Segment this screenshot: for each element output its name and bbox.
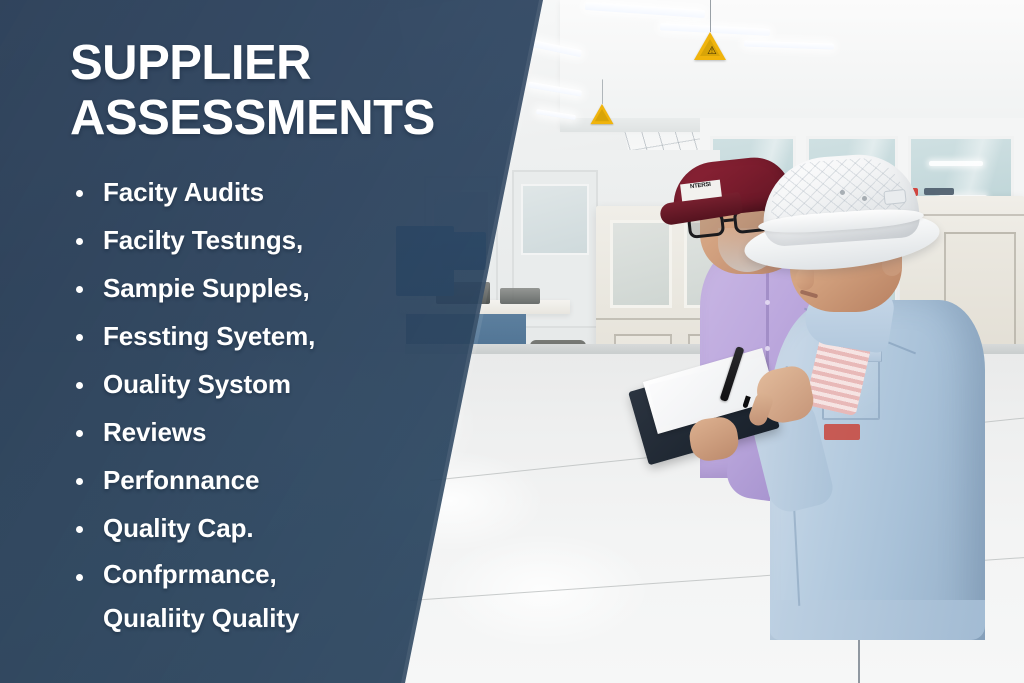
jacket-hem (770, 600, 985, 640)
list-item: Ouality Systom (70, 360, 370, 408)
jacket-name-badge (824, 424, 860, 440)
list-item: Sampie Supples, (70, 264, 370, 312)
bucket-hat-vent (862, 196, 867, 201)
bucket-hat-tab (883, 189, 906, 205)
list-item: Quality Cap. (70, 504, 370, 552)
worker-front-nose (796, 268, 814, 290)
title-line-2: ASSESSMENTS (70, 91, 470, 146)
title-line-1: SUPPLIER (70, 36, 311, 90)
text-content: SUPPLIER ASSESSMENTS Facity Audits Facil… (0, 0, 470, 683)
slide-canvas: ⚠ (0, 0, 1024, 683)
list-item: Facity Audits (70, 168, 370, 216)
shirt-button (765, 300, 770, 305)
list-item: Confprmance, Quıaliity Quality (70, 552, 370, 640)
shirt-button (765, 346, 770, 351)
glasses-bridge (724, 218, 734, 222)
list-item: Facilty Testıngs, (70, 216, 370, 264)
bullet-list: Facity Audits Facilty Testıngs, Sampie S… (70, 168, 470, 640)
page-title: SUPPLIER ASSESSMENTS (70, 36, 470, 146)
list-item: Reviews (70, 408, 370, 456)
list-item: Fessting Syetem, (70, 312, 370, 360)
list-item: Perfonnance (70, 456, 370, 504)
bucket-hat-vent (840, 190, 845, 195)
